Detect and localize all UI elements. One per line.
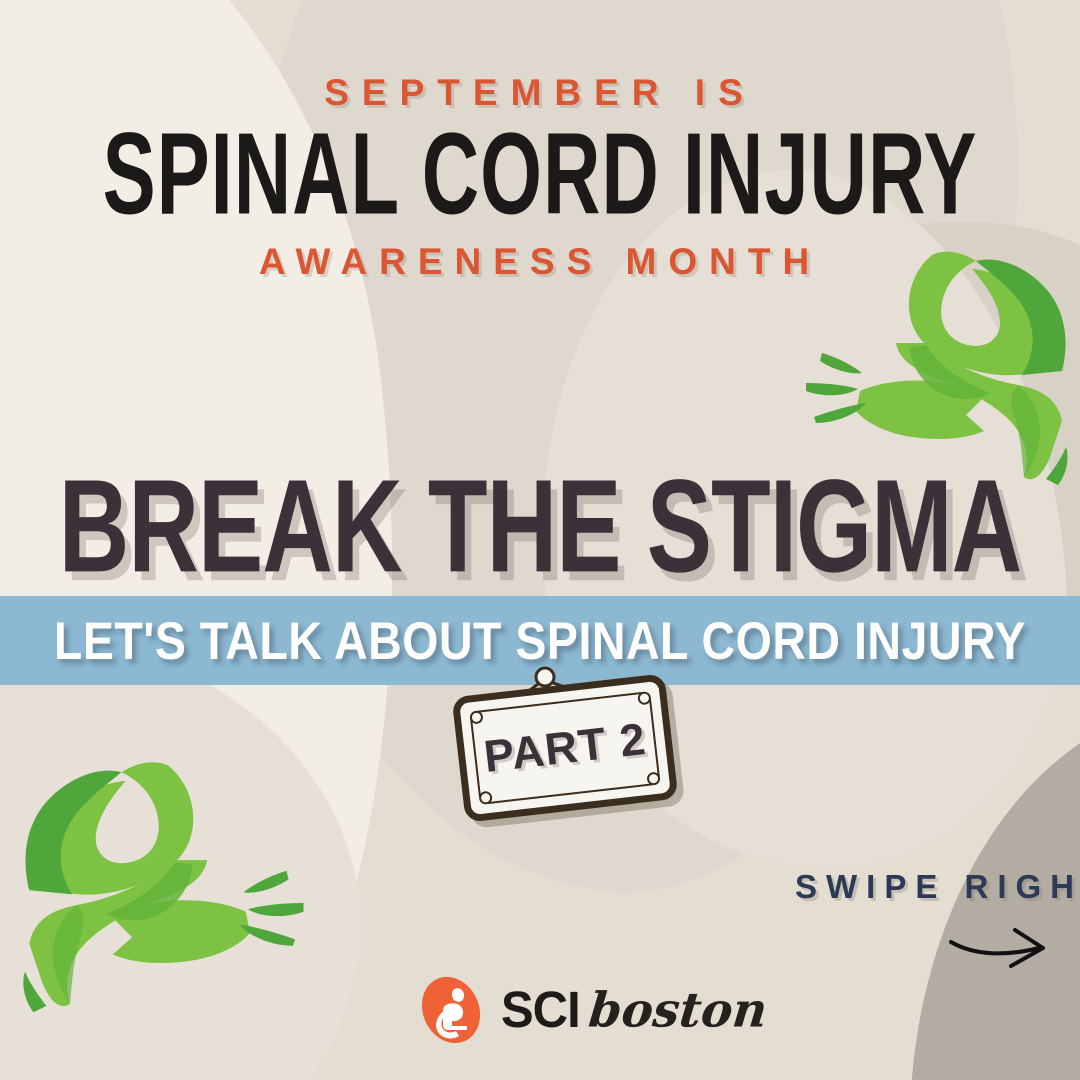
swipe-right-label: SWIPE RIGHT bbox=[795, 868, 1080, 906]
right-arrow-icon bbox=[945, 922, 1055, 978]
part-sign: PART 2 bbox=[430, 663, 690, 823]
brand-logo: SCI boston bbox=[415, 972, 695, 1048]
logo-text-sci: SCI bbox=[501, 981, 580, 1040]
ribbon-bottom-left-icon bbox=[10, 728, 310, 1018]
logo-text-boston: boston bbox=[586, 982, 770, 1038]
page-title: SPINAL CORD INJURY bbox=[16, 120, 1064, 232]
sign-plate: PART 2 bbox=[452, 673, 679, 822]
social-post-canvas: SEPTEMBER IS SPINAL CORD INJURY AWARENES… bbox=[0, 0, 1080, 1080]
stigma-headline: BREAK THE STIGMA bbox=[32, 452, 1047, 603]
header-block: SEPTEMBER IS SPINAL CORD INJURY AWARENES… bbox=[0, 72, 1080, 283]
wheelchair-athlete-icon bbox=[415, 974, 487, 1046]
subline-text: AWARENESS MONTH bbox=[0, 241, 1080, 283]
sign-screw-bottom-right bbox=[646, 771, 660, 785]
eyebrow-text: SEPTEMBER IS bbox=[0, 72, 1080, 114]
